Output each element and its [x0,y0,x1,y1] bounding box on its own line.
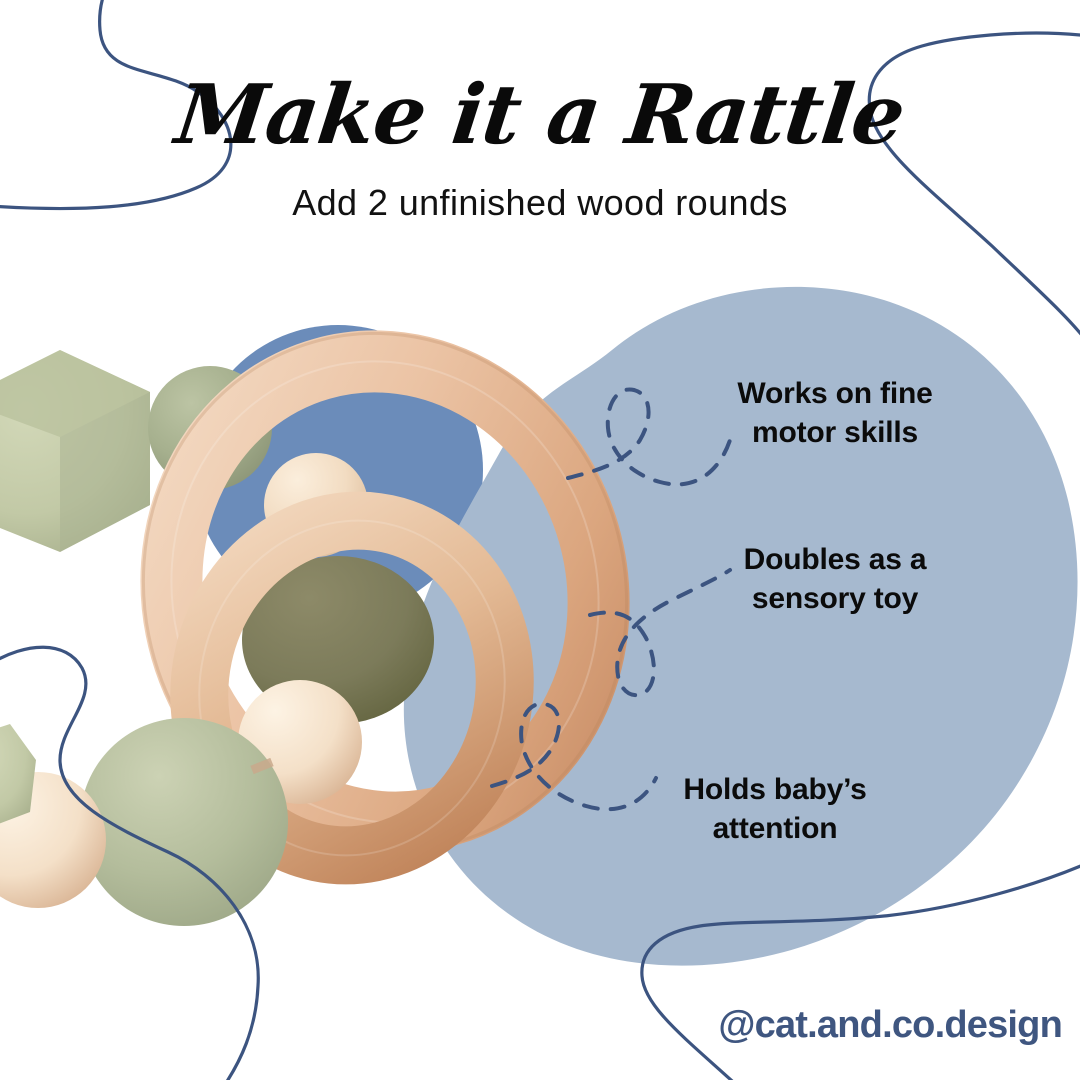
instagram-post-canvas: Make it a Rattle Add 2 unfinished wood r… [0,0,1080,1080]
benefit-item-1-line2: motor skills [690,413,980,452]
social-handle[interactable]: @cat.and.co.design [718,1004,1062,1047]
benefit-item-1-line1: Works on fine [690,374,980,413]
benefit-item-3-line1: Holds baby’s [630,770,920,809]
benefit-item-2: Doubles as a sensory toy [690,540,980,618]
benefit-item-2-line1: Doubles as a [690,540,980,579]
page-subtitle: Add 2 unfinished wood rounds [0,182,1080,224]
benefit-item-3: Holds baby’s attention [630,770,920,848]
page-title: Make it a Rattle [0,74,1080,156]
benefit-item-1: Works on fine motor skills [690,374,980,452]
benefit-item-2-line2: sensory toy [690,579,980,618]
benefit-item-3-line2: attention [630,809,920,848]
